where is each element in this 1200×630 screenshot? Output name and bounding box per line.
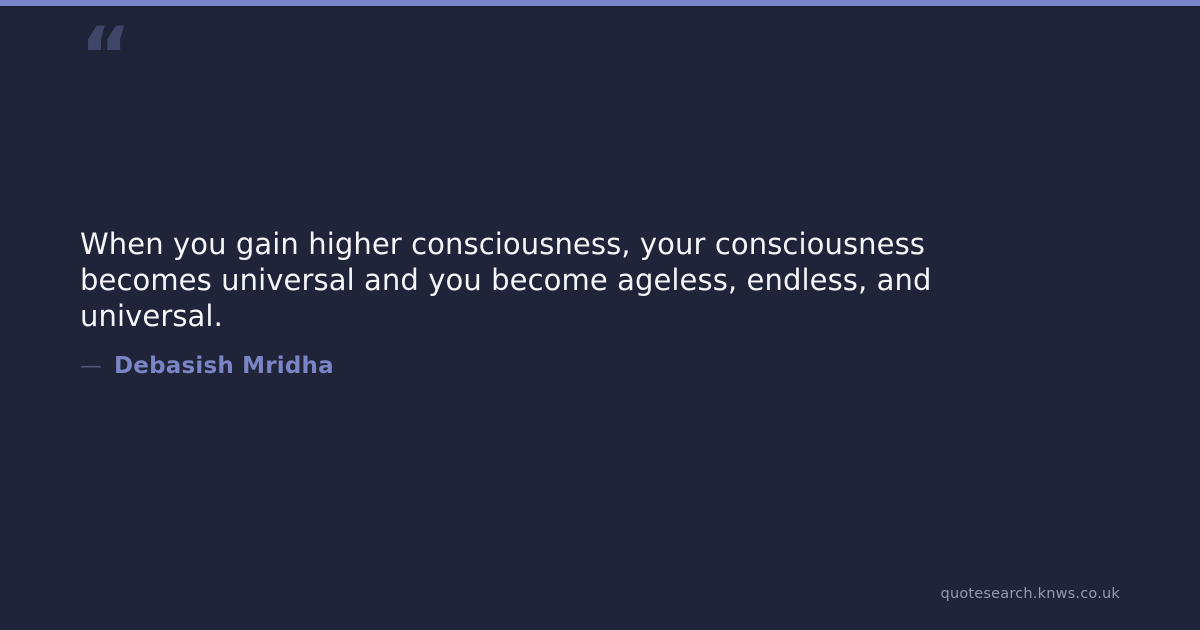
site-watermark: quotesearch.knws.co.uk [941,586,1120,602]
quote-card: “ When you gain higher consciousness, yo… [0,0,1200,630]
quote-body: When you gain higher consciousness, your… [80,226,1060,334]
open-quote-icon: “ [80,18,129,96]
background-band-upper [0,6,1200,78]
attribution-dash: — [80,356,102,378]
attribution-author[interactable]: Debasish Mridha [114,355,334,378]
quote-text: When you gain higher consciousness, your… [80,226,1060,334]
attribution: — Debasish Mridha [80,355,334,378]
